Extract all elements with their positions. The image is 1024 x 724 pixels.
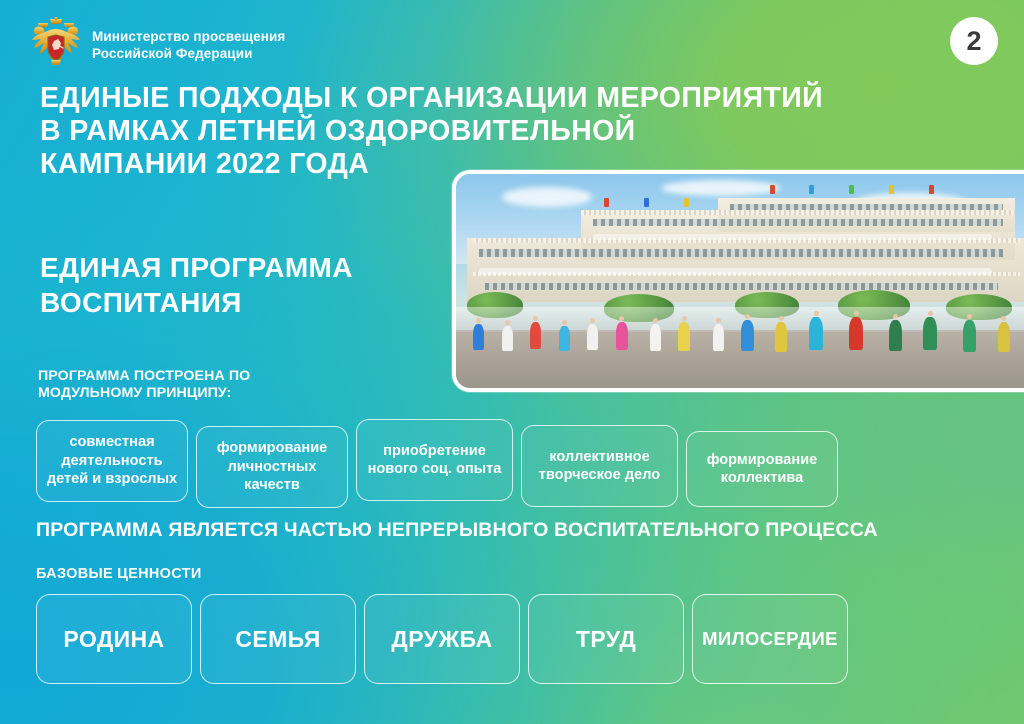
photo-performer <box>809 317 823 350</box>
photo-ground <box>456 330 1024 388</box>
value-box-rodina-label: РОДИНА <box>63 626 164 653</box>
photo-performer <box>963 320 976 352</box>
photo-performer <box>678 322 690 351</box>
module-box-4[interactable]: коллективное творческое дело <box>521 425 678 507</box>
value-box-miloserdie[interactable]: МИЛОСЕРДИЕ <box>692 594 848 684</box>
section-subtitle: ЕДИНАЯ ПРОГРАММА ВОСПИТАНИЯ <box>40 250 460 320</box>
module-box-1[interactable]: совместная деятельность детей и взрослых <box>36 420 188 502</box>
modular-principle-note: ПРОГРАММА ПОСТРОЕНА ПО МОДУЛЬНОМУ ПРИНЦИ… <box>38 368 368 402</box>
photo-flag <box>889 185 894 194</box>
photo-performer <box>650 324 661 351</box>
photo-flag <box>684 198 689 207</box>
value-box-trud[interactable]: ТРУД <box>528 594 684 684</box>
photo-flag <box>849 185 854 194</box>
ministry-name: Министерство просвещения Российской Феде… <box>92 29 285 62</box>
module-box-5[interactable]: формирование коллектива <box>686 431 838 507</box>
page-title: ЕДИНЫЕ ПОДХОДЫ К ОРГАНИЗАЦИИ МЕРОПРИЯТИЙ… <box>40 82 940 181</box>
base-values-label: БАЗОВЫЕ ЦЕННОСТИ <box>36 566 202 582</box>
modular-principle-note-line-2: МОДУЛЬНОМУ ПРИНЦИПУ: <box>38 385 368 402</box>
module-box-3-label: приобретение нового соц. опыта <box>363 442 506 479</box>
modular-principle-note-line-1: ПРОГРАММА ПОСТРОЕНА ПО <box>38 368 368 385</box>
base-values-group: РОДИНА СЕМЬЯ ДРУЖБА ТРУД МИЛОСЕРДИЕ <box>0 594 1024 690</box>
camp-photo-frame <box>452 170 1024 392</box>
module-box-4-label: коллективное творческое дело <box>528 448 671 485</box>
module-box-5-label: формирование коллектива <box>693 451 831 488</box>
photo-performer <box>473 324 484 350</box>
photo-performer <box>889 320 902 351</box>
photo-performer <box>502 326 513 351</box>
section-subtitle-line-1: ЕДИНАЯ ПРОГРАММА <box>40 250 460 285</box>
russian-coat-of-arms-icon <box>27 17 85 71</box>
photo-performer <box>775 322 787 352</box>
module-box-3[interactable]: приобретение нового соц. опыта <box>356 419 513 501</box>
page-title-line-2: В РАМКАХ ЛЕТНЕЙ ОЗДОРОВИТЕЛЬНОЙ <box>40 115 940 148</box>
photo-performer <box>713 324 724 351</box>
program-modules-group: совместная деятельность детей и взрослых… <box>0 408 1024 512</box>
value-box-druzhba-label: ДРУЖБА <box>391 626 492 653</box>
camp-photo <box>456 174 1024 388</box>
page-title-line-3: КАМПАНИИ 2022 ГОДА <box>40 148 940 181</box>
photo-crowd-band <box>456 307 1024 333</box>
photo-window-row <box>593 219 1003 226</box>
value-box-semya[interactable]: СЕМЬЯ <box>200 594 356 684</box>
photo-window-row <box>730 204 1004 210</box>
value-box-rodina[interactable]: РОДИНА <box>36 594 192 684</box>
section-subtitle-line-2: ВОСПИТАНИЯ <box>40 285 460 320</box>
photo-flag <box>604 198 609 207</box>
photo-performer <box>741 320 754 351</box>
photo-performer <box>923 317 937 350</box>
photo-performer <box>559 326 570 351</box>
module-box-1-label: совместная деятельность детей и взрослых <box>43 433 181 489</box>
photo-performer <box>849 317 863 350</box>
page-number-badge: 2 <box>950 17 998 65</box>
photo-spectators <box>479 268 992 275</box>
photo-flag <box>644 198 649 207</box>
module-box-2[interactable]: формирование личностных качеств <box>196 426 348 508</box>
slide-root: Министерство просвещения Российской Феде… <box>0 0 1024 724</box>
photo-performer <box>587 324 598 350</box>
photo-railing <box>581 210 1014 215</box>
slide-header: Министерство просвещения Российской Феде… <box>0 0 1024 78</box>
value-box-trud-label: ТРУД <box>576 626 636 653</box>
value-box-semya-label: СЕМЬЯ <box>235 626 320 653</box>
ministry-line-1: Министерство просвещения <box>92 29 285 46</box>
photo-performer <box>530 322 541 349</box>
photo-window-row <box>479 249 1003 257</box>
photo-flag <box>929 185 934 194</box>
photo-performer <box>998 322 1010 352</box>
photo-flag <box>770 185 775 194</box>
photo-performer <box>616 322 628 350</box>
photo-cloud <box>502 187 592 207</box>
module-box-2-label: формирование личностных качеств <box>203 439 341 495</box>
photo-spectators <box>593 234 992 240</box>
value-box-druzhba[interactable]: ДРУЖБА <box>364 594 520 684</box>
page-title-line-1: ЕДИНЫЕ ПОДХОДЫ К ОРГАНИЗАЦИИ МЕРОПРИЯТИЙ <box>40 82 940 115</box>
ministry-line-2: Российской Федерации <box>92 46 285 63</box>
continuous-process-statement: ПРОГРАММА ЯВЛЯЕТСЯ ЧАСТЬЮ НЕПРЕРЫВНОГО В… <box>36 519 986 542</box>
photo-window-row <box>485 283 998 290</box>
photo-flag <box>809 185 814 194</box>
value-box-miloserdie-label: МИЛОСЕРДИЕ <box>702 628 838 650</box>
